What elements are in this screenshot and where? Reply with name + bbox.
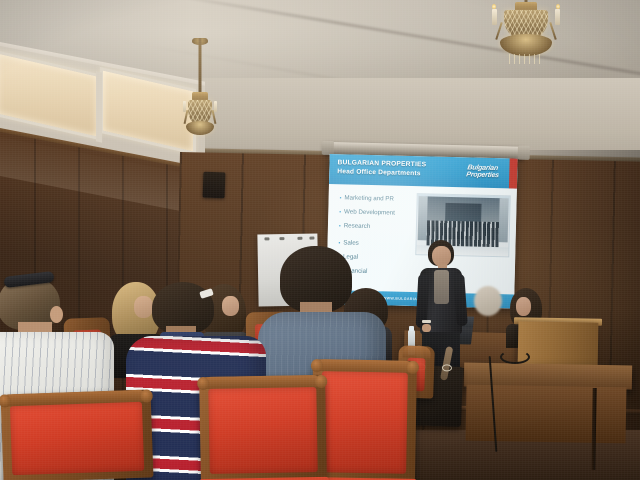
chandelier-bowl (186, 121, 214, 135)
lectern (518, 321, 599, 368)
photo-pillar (499, 198, 509, 242)
chandelier-icon (488, 0, 564, 74)
chair-backrest-pad (10, 402, 144, 476)
bullet-item: Marketing and PR (340, 194, 418, 204)
chandelier-rod (199, 38, 202, 96)
screen-endcap (322, 141, 334, 155)
chair (199, 375, 327, 480)
chandelier-candle (555, 9, 560, 25)
hand (422, 324, 431, 332)
chandelier-icon (182, 38, 218, 138)
chandelier-arm (212, 110, 217, 124)
bullet-item: Research (339, 222, 417, 232)
screen-endcap (518, 146, 530, 160)
coiled-cable (500, 350, 530, 364)
chandelier-bowl (500, 34, 552, 56)
transom-mullion (96, 71, 102, 142)
wall-speaker-icon (203, 172, 226, 199)
logo-line-2: Properties (465, 171, 499, 179)
ear (50, 306, 63, 323)
chandelier-crystal-drops (509, 54, 543, 64)
face (516, 297, 531, 316)
flipchart-clip (309, 237, 314, 240)
bullet-item: Web Development (339, 208, 417, 218)
chandelier-candle (214, 101, 217, 112)
bulgarian-properties-logo: Bulgarian Properties (453, 160, 512, 183)
wristwatch (422, 320, 431, 323)
chair (1, 389, 154, 480)
chair-post-knob (197, 377, 209, 390)
handbag-ring (442, 364, 452, 371)
lectern-table-apron (466, 385, 627, 444)
chair (311, 359, 417, 480)
chandelier-candle (492, 9, 497, 25)
flipchart-clip (297, 237, 302, 240)
flipchart-clip (279, 237, 284, 240)
conference-room-photo: BULGARIAN PROPERTIES Head Office Departm… (0, 0, 640, 480)
inner-top (434, 270, 449, 304)
flipchart-clip (264, 237, 269, 240)
chair-crest-rail (402, 346, 430, 359)
chair-backrest-pad (208, 387, 317, 474)
head (474, 286, 502, 316)
audience-member-distant (474, 286, 502, 316)
chair-backrest-pad (320, 371, 408, 473)
right-arm (453, 274, 468, 327)
